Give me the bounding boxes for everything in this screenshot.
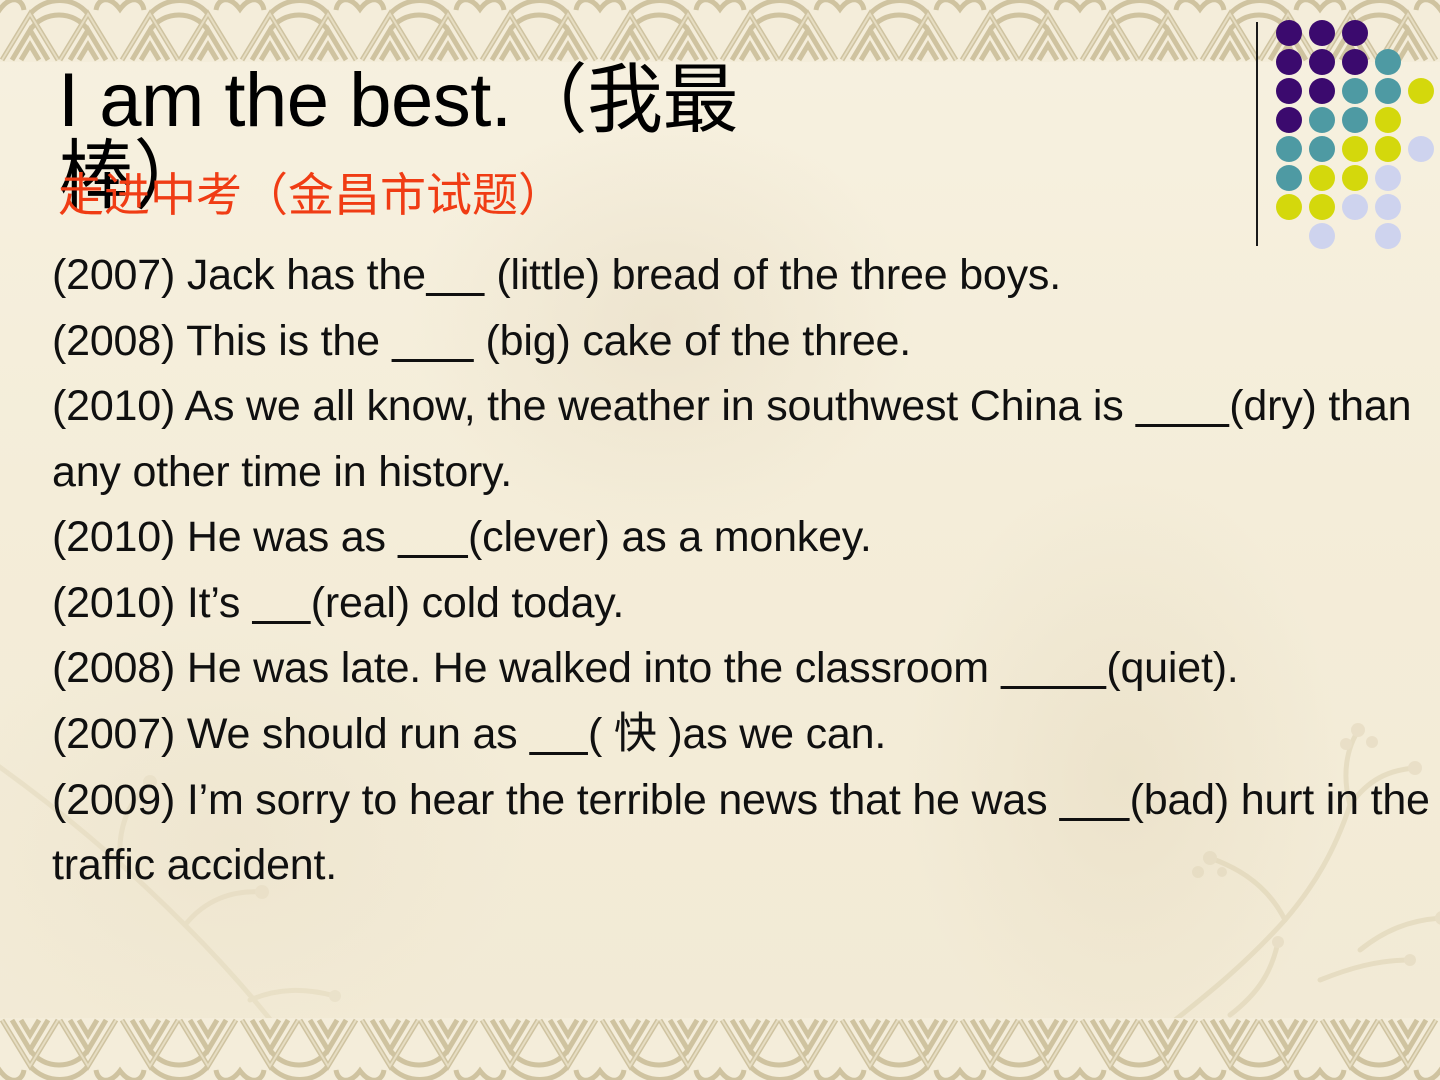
decor-dot [1375, 107, 1401, 133]
exercise-line: (2010) He was as (clever) as a monkey. [52, 505, 1430, 571]
decor-dot [1375, 78, 1401, 104]
decor-dot [1342, 20, 1368, 46]
answer-blank [1059, 776, 1129, 824]
decor-dot [1309, 20, 1335, 46]
answer-blank [426, 251, 485, 299]
decor-dot [1375, 136, 1401, 162]
decor-dot [1342, 165, 1368, 191]
exercise-line: (2007) We should run as ( 快 )as we can. [52, 702, 1430, 768]
decor-dot [1342, 194, 1368, 220]
exercise-line: (2008) This is the (big) cake of the thr… [52, 309, 1430, 375]
decor-dot [1342, 107, 1368, 133]
decor-dot [1375, 165, 1401, 191]
decor-dot [1276, 165, 1302, 191]
vertical-rule [1256, 22, 1258, 246]
top-border-ornament [0, 0, 1440, 62]
answer-blank [1001, 644, 1107, 692]
decor-dot [1276, 194, 1302, 220]
dot-cluster-decoration [1276, 20, 1440, 250]
answer-blank [252, 579, 311, 627]
cjk-hint: 快 [614, 709, 657, 759]
exercise-line: (2008) He was late. He walked into the c… [52, 636, 1430, 702]
subtitle-source: 走进中考（金昌市试题） [58, 172, 564, 218]
decor-dot [1309, 165, 1335, 191]
decor-dot [1309, 78, 1335, 104]
decor-dot [1276, 107, 1302, 133]
decor-dot [1309, 107, 1335, 133]
answer-blank [398, 513, 468, 561]
exercise-line: (2010) As we all know, the weather in so… [52, 374, 1430, 505]
decor-dot [1309, 49, 1335, 75]
decor-dot [1375, 49, 1401, 75]
exercise-line: (2007) Jack has the (little) bread of th… [52, 243, 1430, 309]
bottom-border-ornament [0, 1018, 1440, 1080]
decor-dot [1342, 78, 1368, 104]
exercise-line: (2010) It’s (real) cold today. [52, 571, 1430, 637]
presentation-slide: I am the best.（我最棒） 走进中考（金昌市试题） (2007) J… [0, 0, 1440, 1080]
title-chinese-part1: （我最 [511, 55, 738, 144]
answer-blank [392, 317, 474, 365]
decor-dot [1342, 136, 1368, 162]
decor-dot [1375, 194, 1401, 220]
answer-blank [1135, 382, 1229, 430]
answer-blank [529, 710, 588, 758]
decor-dot [1408, 78, 1434, 104]
decor-dot [1408, 136, 1434, 162]
decor-dot [1276, 78, 1302, 104]
decor-dot [1309, 136, 1335, 162]
decor-dot [1276, 49, 1302, 75]
exercise-list: (2007) Jack has the (little) bread of th… [52, 243, 1430, 899]
decor-dot [1276, 136, 1302, 162]
decor-dot [1342, 49, 1368, 75]
exercise-line: (2009) I’m sorry to hear the terrible ne… [52, 768, 1430, 899]
decor-dot [1276, 20, 1302, 46]
decor-dot [1309, 194, 1335, 220]
